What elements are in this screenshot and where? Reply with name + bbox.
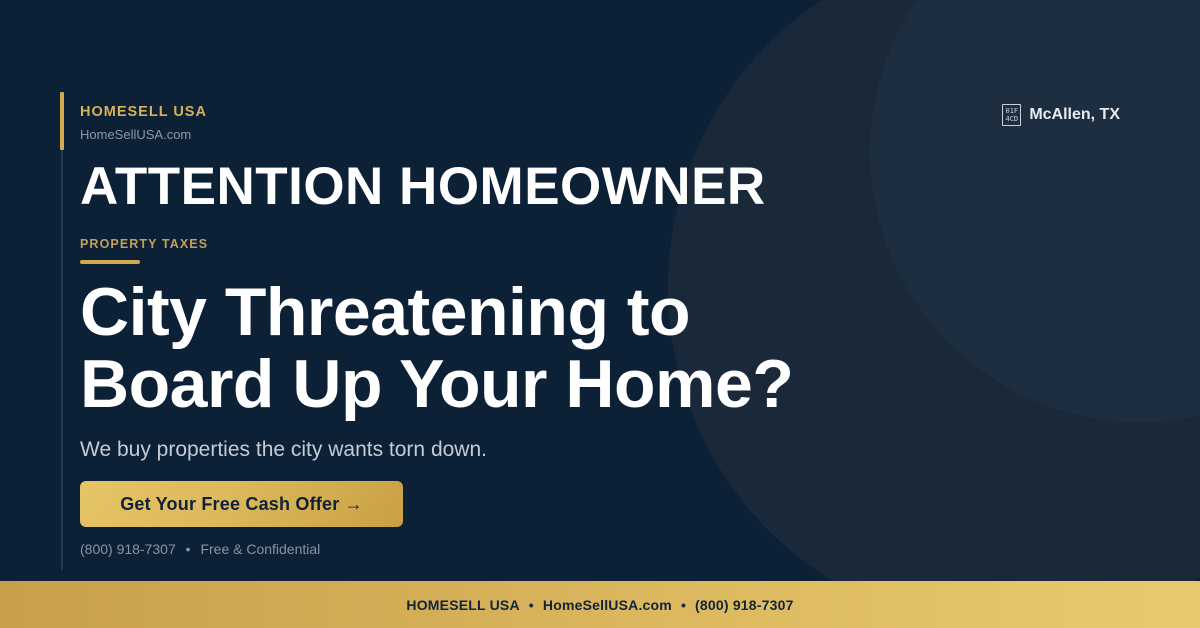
brand-name: HOMESELL USA [80, 105, 207, 120]
footer-brand: HOMESELL USA [406, 597, 519, 613]
subheadline: We buy properties the city wants torn do… [80, 436, 487, 463]
map-pin-icon-codepoint-top: 01F [1005, 107, 1018, 115]
footer-website[interactable]: HomeSellUSA.com [543, 597, 672, 613]
eyebrow-underline-rule [80, 260, 140, 264]
footer-separator-1-icon: • [529, 597, 534, 613]
contact-line: (800) 918-7307 • Free & Confidential [80, 542, 320, 556]
brand-website: HomeSellUSA.com [80, 128, 207, 141]
map-pin-icon: 01F 4CD [1002, 104, 1021, 126]
footer-phone[interactable]: (800) 918-7307 [695, 597, 794, 613]
left-hairline-rail [61, 92, 63, 570]
page-title: City Threatening to Board Up Your Home? [80, 276, 900, 420]
footer-bar: HOMESELL USA • HomeSellUSA.com • (800) 9… [0, 581, 1200, 628]
attention-heading: ATTENTION HOMEOWNER [80, 159, 766, 214]
content-area: HOMESELL USA HomeSellUSA.com 01F 4CD McA… [80, 0, 1120, 628]
headline-line-1: City Threatening to [80, 276, 900, 348]
contact-separator-icon: • [186, 541, 191, 557]
location-badge: 01F 4CD McAllen, TX [1002, 104, 1120, 126]
location-label: McAllen, TX [1029, 107, 1120, 123]
ad-banner: HOMESELL USA HomeSellUSA.com 01F 4CD McA… [0, 0, 1200, 628]
headline-line-2: Board Up Your Home? [80, 348, 900, 420]
map-pin-icon-codepoint-bottom: 4CD [1005, 115, 1018, 123]
brand-block: HOMESELL USA HomeSellUSA.com [80, 105, 207, 141]
contact-assurance: Free & Confidential [200, 541, 320, 557]
get-free-cash-offer-button[interactable]: Get Your Free Cash Offer → [80, 481, 403, 527]
footer-separator-2-icon: • [681, 597, 686, 613]
contact-phone[interactable]: (800) 918-7307 [80, 541, 176, 557]
left-gold-accent-bar [60, 92, 64, 150]
eyebrow-label: PROPERTY TAXES [80, 238, 208, 251]
